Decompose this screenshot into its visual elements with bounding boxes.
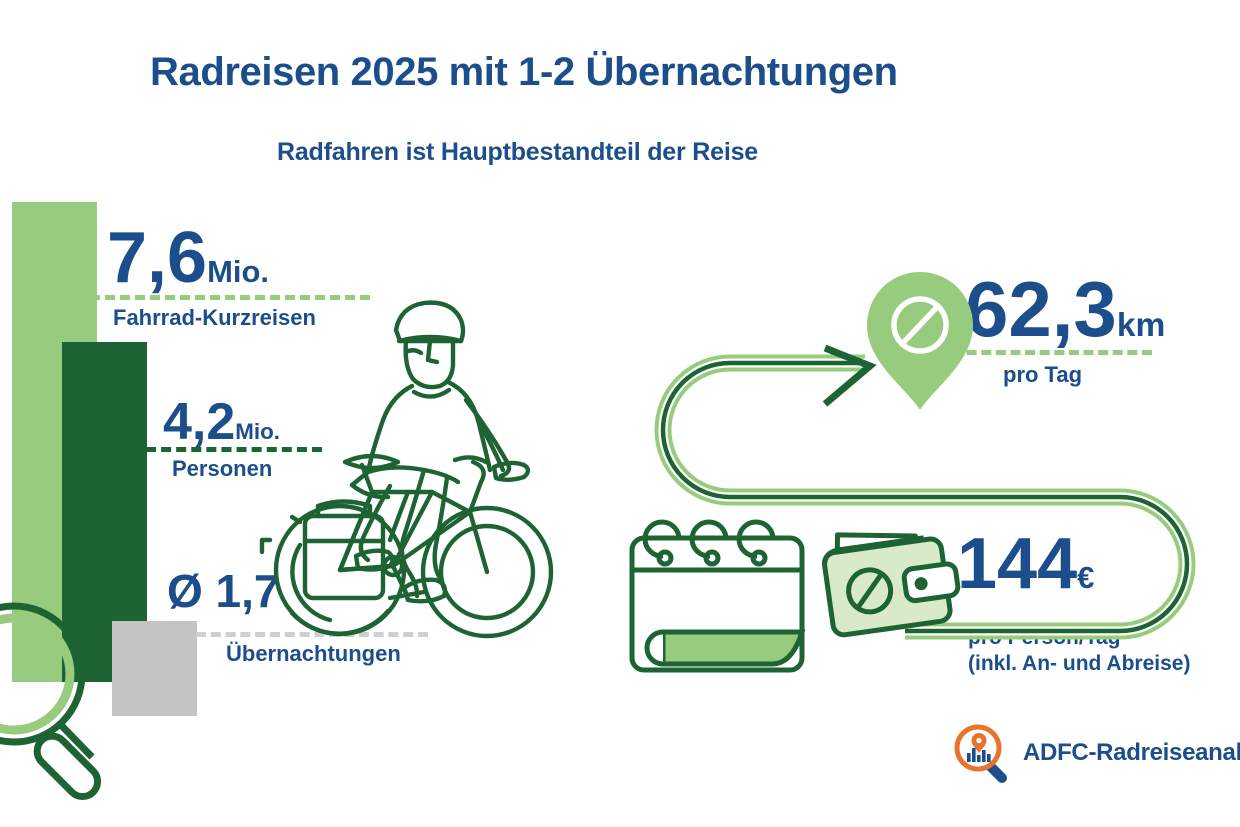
wallet-bill	[834, 524, 920, 573]
map-pin-average-symbol	[894, 299, 946, 351]
bicycle-rear-wheel	[276, 506, 404, 634]
stat-caption-ausgaben: pro Person/Tag (inkl. An- und Abreise)	[968, 625, 1190, 678]
stat-caption-uebernachtungen: Übernachtungen	[226, 641, 401, 667]
route-arrow-icon	[825, 348, 870, 404]
stat-caption-fahrrad-kurzreisen: Fahrrad-Kurzreisen	[113, 305, 316, 331]
magnifier-logo-icon	[952, 722, 1014, 784]
stat-unit-distanz: km	[1117, 307, 1165, 344]
calendar-rings	[645, 522, 773, 564]
stat-number-distanz: 62,3	[965, 265, 1117, 353]
cyclist-front-leg	[402, 470, 424, 596]
stat-unit-personen: Mio.	[235, 419, 280, 444]
bicycle-handlebar	[470, 462, 484, 512]
cyclist-illustration	[262, 303, 551, 636]
cyclist-torso	[352, 386, 412, 485]
infographic-canvas: Radreisen 2025 mit 1-2 Übernachtungen Ra…	[0, 0, 1240, 827]
stat-number-ausgaben: 144	[957, 524, 1077, 604]
cyclist-rear-shoe	[356, 551, 393, 570]
cyclist-hand	[494, 463, 528, 480]
stat-caption-personen: Personen	[172, 456, 272, 482]
pannier-bag	[292, 502, 383, 599]
calendar-number: 1	[684, 577, 704, 618]
stat-caption-ausgaben-line2: (inkl. An- und Abreise)	[968, 651, 1190, 677]
calendar-label: 1Tag	[684, 580, 738, 616]
adfc-logo[interactable]: ADFC-Radreiseanalyse	[952, 722, 1240, 784]
bar-uebernachtungen	[112, 621, 197, 716]
bicycle-pedal	[390, 592, 424, 598]
stat-value-personen: 4,2Mio.	[163, 396, 280, 448]
calendar-page-curl	[663, 632, 802, 664]
cyclist-helmet	[396, 303, 463, 341]
bicycle-frame	[340, 492, 432, 570]
route-path	[663, 348, 1187, 631]
page-subtitle: Radfahren ist Hauptbestandteil der Reise	[277, 138, 758, 167]
stat-value-ausgaben: 144€	[957, 528, 1094, 600]
stat-caption-distanz: pro Tag	[1003, 362, 1082, 388]
stat-unit-fahrrad-kurzreisen: Mio.	[207, 254, 269, 289]
wallet-icon	[821, 519, 963, 636]
stat-unit-ausgaben: €	[1077, 560, 1094, 595]
calendar-unit: Tag	[704, 593, 738, 615]
cyclist-shorts	[368, 467, 458, 482]
leader-line-uebernachtungen	[196, 632, 428, 637]
bicycle-saddle	[345, 456, 398, 468]
stat-number-fahrrad-kurzreisen: 7,6	[107, 218, 207, 298]
bicycle-front-wheel	[423, 508, 551, 636]
cyclist-rider	[352, 303, 528, 602]
logo-text: ADFC-Radreiseanalyse	[1023, 739, 1240, 767]
page-title: Radreisen 2025 mit 1-2 Übernachtungen	[150, 50, 898, 95]
stat-value-distanz: 62,3km	[965, 270, 1165, 348]
cyclist-rear-leg	[361, 486, 390, 560]
stat-number-personen: 4,2	[163, 393, 235, 451]
cyclist-front-shoe	[404, 580, 445, 602]
cyclist-arm	[466, 400, 509, 476]
wallet-average-symbol	[846, 567, 893, 614]
map-pin-icon	[867, 272, 973, 410]
stat-caption-ausgaben-line1: pro Person/Tag	[968, 625, 1190, 651]
stat-value-uebernachtungen: Ø 1,7	[167, 568, 280, 614]
stat-value-fahrrad-kurzreisen: 7,6Mio.	[107, 222, 269, 294]
